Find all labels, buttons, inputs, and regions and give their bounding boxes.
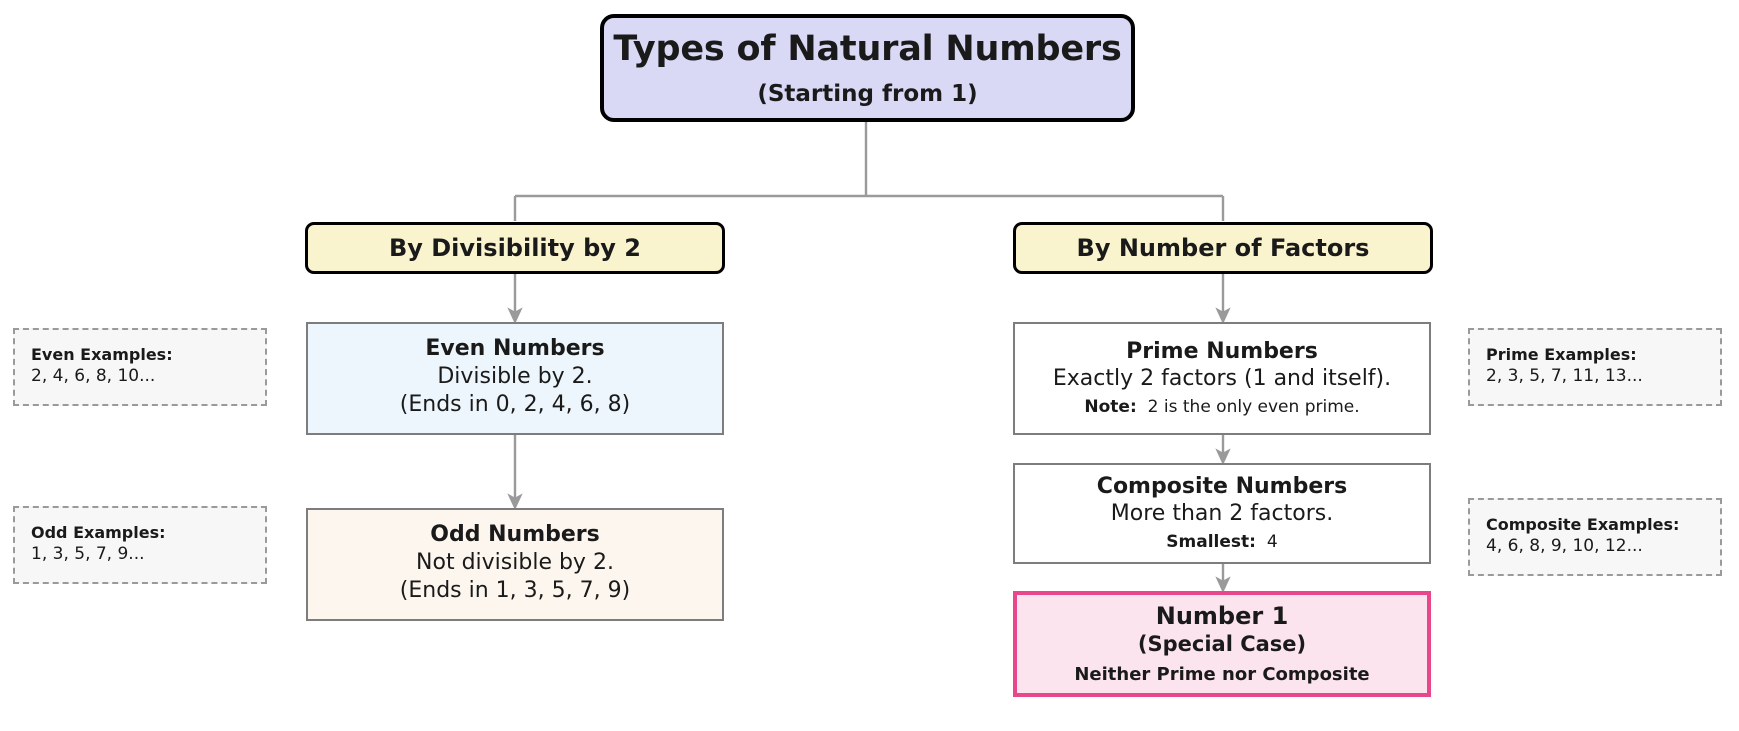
note-composite-examples: Composite Examples: 4, 6, 8, 9, 10, 12..… <box>1468 498 1722 576</box>
node-detail-text: (Ends in 1, 3, 5, 7, 9) <box>400 577 630 606</box>
category-label: By Number of Factors <box>1077 234 1370 262</box>
node-definition: Exactly 2 factors (1 and itself). <box>1053 365 1391 394</box>
note-values: 2, 3, 5, 7, 11, 13... <box>1486 365 1643 388</box>
node-category-factors[interactable]: By Number of Factors <box>1013 222 1433 274</box>
node-definition: Not divisible by 2. <box>416 549 614 578</box>
node-root[interactable]: Types of Natural Numbers (Starting from … <box>600 14 1135 122</box>
node-title: Prime Numbers <box>1126 338 1318 366</box>
note-title: Odd Examples: <box>31 522 166 544</box>
note-title: Composite Examples: <box>1486 514 1679 536</box>
node-note: Neither Prime nor Composite <box>1074 664 1369 685</box>
natural-numbers-diagram: Types of Natural Numbers (Starting from … <box>0 0 1739 731</box>
note-label: Note: <box>1084 397 1136 417</box>
note-values: 4, 6, 8, 9, 10, 12... <box>1486 535 1643 558</box>
node-title: Odd Numbers <box>430 521 599 549</box>
note-title: Even Examples: <box>31 344 173 366</box>
node-detail-text: (Ends in 0, 2, 4, 6, 8) <box>400 391 630 420</box>
node-note: Smallest: 4 <box>1166 532 1277 552</box>
node-even-numbers[interactable]: Even Numbers Divisible by 2. (Ends in 0,… <box>306 322 724 435</box>
node-category-divisibility[interactable]: By Divisibility by 2 <box>305 222 725 274</box>
node-odd-numbers[interactable]: Odd Numbers Not divisible by 2. (Ends in… <box>306 508 724 621</box>
note-title: Prime Examples: <box>1486 344 1637 366</box>
node-title: Even Numbers <box>425 335 604 363</box>
note-values: 1, 3, 5, 7, 9... <box>31 543 145 566</box>
node-definition: More than 2 factors. <box>1111 500 1333 529</box>
note-value: 4 <box>1262 532 1278 552</box>
root-subtitle: (Starting from 1) <box>757 81 977 107</box>
root-title: Types of Natural Numbers <box>613 31 1121 68</box>
node-definition: Divisible by 2. <box>437 363 592 392</box>
node-note: Note: 2 is the only even prime. <box>1084 397 1359 417</box>
node-composite-numbers[interactable]: Composite Numbers More than 2 factors. S… <box>1013 463 1431 564</box>
node-subtitle: (Special Case) <box>1138 631 1306 658</box>
note-value: 2 is the only even prime. <box>1143 397 1360 417</box>
note-prime-examples: Prime Examples: 2, 3, 5, 7, 11, 13... <box>1468 328 1722 406</box>
note-even-examples: Even Examples: 2, 4, 6, 8, 10... <box>13 328 267 406</box>
note-values: 2, 4, 6, 8, 10... <box>31 365 155 388</box>
node-title: Number 1 <box>1156 601 1289 631</box>
node-number-one-special-case[interactable]: Number 1 (Special Case) Neither Prime no… <box>1013 591 1431 697</box>
node-title: Composite Numbers <box>1097 473 1347 501</box>
category-label: By Divisibility by 2 <box>389 234 641 262</box>
note-odd-examples: Odd Examples: 1, 3, 5, 7, 9... <box>13 506 267 584</box>
node-prime-numbers[interactable]: Prime Numbers Exactly 2 factors (1 and i… <box>1013 322 1431 435</box>
note-label: Smallest: <box>1166 532 1256 552</box>
